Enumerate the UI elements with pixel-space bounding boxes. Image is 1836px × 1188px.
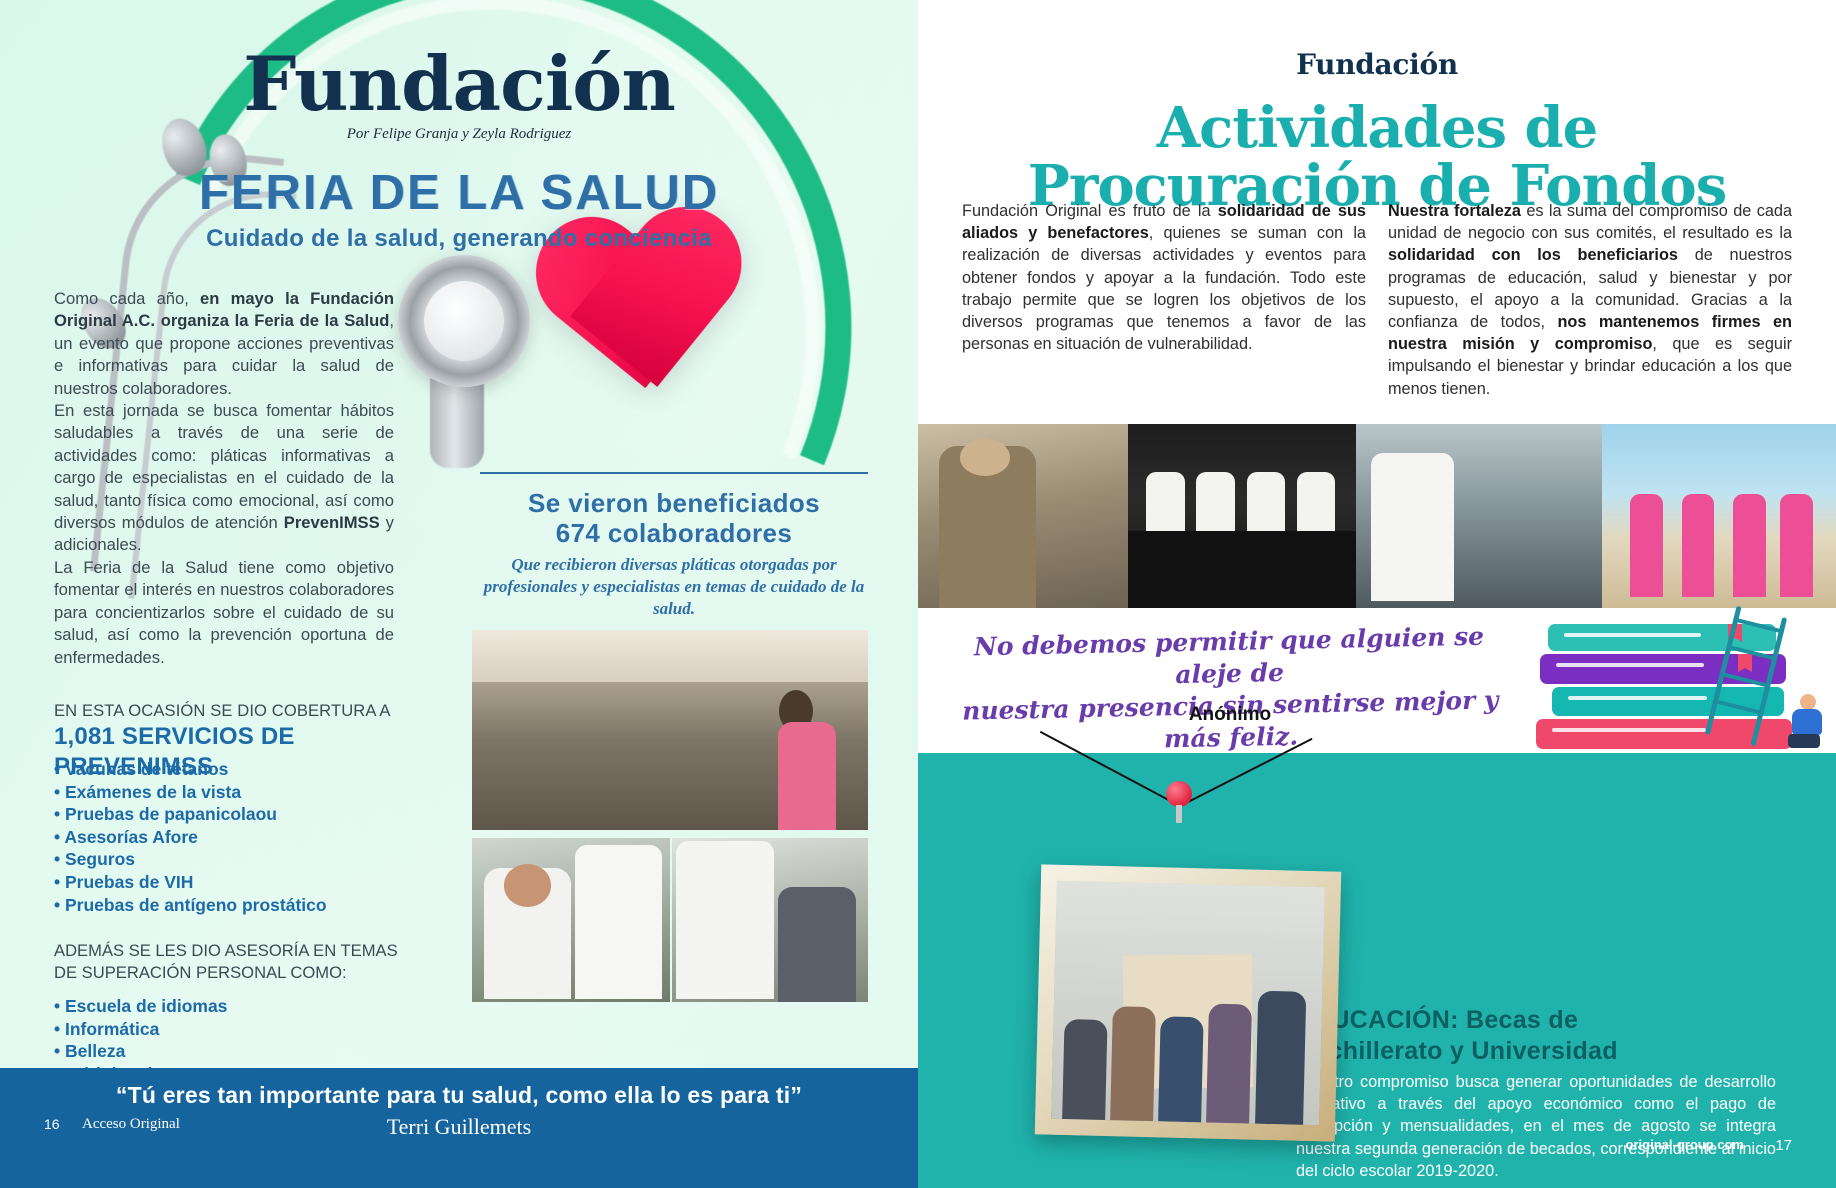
list-item: • Asesorías Afore: [54, 826, 414, 849]
quote-line1: No debemos permitir que alguien se aleje…: [939, 620, 1520, 696]
photo-table: [1128, 531, 1356, 608]
quote-author: Anónimo: [940, 704, 1520, 726]
services-list: • Vacunas de tétanos • Exámenes de la vi…: [54, 758, 414, 916]
photo-strip: [918, 424, 1836, 608]
photo-player: [1682, 494, 1715, 597]
photo-donation-sorting: [918, 424, 1128, 608]
ladder-rung: [1719, 672, 1770, 688]
photo-player: [1630, 494, 1663, 597]
photo-speaker-body: [778, 722, 836, 830]
photo-kitchen-volunteers: [1356, 424, 1602, 608]
framed-photo-group: [1018, 828, 1358, 1158]
beneficiaries-caption: Que recibieron diversas pláticas otorgad…: [480, 554, 868, 620]
left-footer-bar: “Tú eres tan importante para tu salud, c…: [0, 1068, 918, 1188]
photo-player: [1780, 494, 1813, 597]
right-column-1: Fundación Original es fruto de la solida…: [962, 200, 1366, 400]
photo-vaccination: [472, 838, 670, 1002]
ladder-rung: [1713, 699, 1764, 715]
climbing-person-icon: [1782, 694, 1822, 752]
photo-wall: [472, 630, 868, 682]
stethoscope-stem: [430, 378, 484, 468]
left-masthead: Fundación Por Felipe Granja y Zeyla Rodr…: [0, 0, 918, 253]
ladder-rung: [1726, 644, 1777, 660]
photo-player: [1733, 494, 1766, 597]
photo-conference-audience: [472, 630, 868, 830]
p2-part-b: PrevenIMSS: [284, 513, 380, 532]
education-title: EDUCACIÓN: Becas de Bachillerato y Unive…: [1296, 1005, 1796, 1067]
magazine-spread: Fundación Por Felipe Granja y Zeyla Rodr…: [0, 0, 1836, 1188]
photo-doctor: [676, 841, 774, 998]
p1-part-a: Como cada año,: [54, 289, 200, 308]
page-number-right: 17: [1775, 1137, 1792, 1154]
beneficiaries-title-line2: 674 colaboradores: [480, 518, 868, 548]
left-page: Fundación Por Felipe Granja y Zeyla Rodr…: [0, 0, 918, 1188]
photo-person: [1062, 1019, 1107, 1120]
education-title-line2: Bachillerato y Universidad: [1296, 1036, 1796, 1067]
ladder-rung: [1733, 617, 1784, 633]
list-item: • Pruebas de VIH: [54, 871, 414, 894]
book-line: [1556, 663, 1704, 667]
right-body-columns: Fundación Original es fruto de la solida…: [962, 200, 1792, 400]
person-body: [1792, 709, 1822, 735]
photo-inner: [1051, 881, 1325, 1125]
person-head: [1800, 694, 1816, 710]
list-item: • Exámenes de la vista: [54, 781, 414, 804]
photo-person: [1158, 1017, 1203, 1123]
article-subhead: Cuidado de la salud, generando concienci…: [0, 225, 918, 253]
page-title: Fundación: [0, 48, 918, 122]
photo-doctor: [575, 845, 662, 999]
photo-patient: [778, 887, 856, 1002]
books-illustration: [1530, 614, 1830, 754]
right-column-2: Nuestra fortaleza es la suma del comprom…: [1388, 200, 1792, 400]
left-body-text: Como cada año, en mayo la Fundación Orig…: [54, 288, 394, 669]
article-headline: FERIA DE LA SALUD: [0, 165, 918, 221]
photo-volunteer: [1371, 453, 1455, 600]
photo-frame-scholarship-group: [1035, 864, 1342, 1141]
stethoscope-chestpiece: [398, 255, 530, 387]
right-title-line1: Actividades de: [918, 99, 1836, 157]
photo-person: [1207, 1004, 1253, 1124]
left-page-content: Fundación Por Felipe Granja y Zeyla Rodr…: [0, 0, 918, 253]
book-line: [1568, 696, 1707, 700]
col1-part-c: , quienes se suman con la realización de…: [962, 224, 1366, 353]
handwritten-quote: No debemos permitir que alguien se aleje…: [939, 620, 1522, 760]
footer-quote: “Tú eres tan importante para tu salud, c…: [0, 1082, 918, 1109]
right-page: Fundación Actividades de Procuración de …: [918, 0, 1836, 1188]
education-title-line1: EDUCACIÓN: Becas de: [1296, 1005, 1796, 1036]
col2-part-c: solidaridad con los beneficiarios: [1388, 246, 1678, 264]
photo-head: [960, 439, 1010, 476]
right-kicker: Fundación: [918, 48, 1836, 81]
photo-person: [1110, 1006, 1156, 1121]
person-legs: [1788, 734, 1820, 748]
right-masthead: Fundación Actividades de Procuración de …: [918, 0, 1836, 215]
paragraph-1: Como cada año, en mayo la Fundación Orig…: [54, 288, 394, 400]
list-item: • Pruebas de antígeno prostático: [54, 894, 414, 917]
education-body-text: Nuestro compromiso busca generar oportun…: [1296, 1071, 1776, 1182]
book-line: [1552, 728, 1706, 732]
footer-brand-left: Acceso Original: [82, 1116, 180, 1133]
col2-part-a: Nuestra fortaleza: [1388, 202, 1521, 220]
list-item: • Pruebas de papanicolaou: [54, 803, 414, 826]
extra-heading: ADEMÁS SE LES DIO ASESORÍA EN TEMAS DE S…: [54, 940, 404, 984]
photo-committee-table: [1128, 424, 1356, 608]
list-item: • Belleza: [54, 1040, 394, 1063]
byline: Por Felipe Granja y Zeyla Rodriguez: [0, 126, 918, 143]
list-item: • Vacunas de tétanos: [54, 758, 414, 781]
pushpin-icon: [1166, 781, 1192, 807]
photo-beach-volleyball: [1602, 424, 1836, 608]
paragraph-2: En esta jornada se busca fomentar hábito…: [54, 400, 394, 557]
right-page-title: Actividades de Procuración de Fondos: [918, 99, 1836, 215]
list-item: • Informática: [54, 1018, 394, 1041]
beneficiaries-title-line1: Se vieron beneficiados: [480, 488, 868, 518]
col1-part-a: Fundación Original es fruto de la: [962, 202, 1218, 220]
footer-brand-right: original-group.com: [1626, 1137, 1744, 1152]
beneficiaries-title: Se vieron beneficiados 674 colaboradores: [480, 488, 868, 548]
divider-top: [480, 472, 868, 474]
photo-person: [1255, 990, 1306, 1124]
quote-band: No debemos permitir que alguien se aleje…: [918, 608, 1836, 753]
book-line: [1564, 633, 1701, 637]
photo-face: [504, 864, 552, 907]
paragraph-3: La Feria de la Salud tiene como objetivo…: [54, 557, 394, 669]
list-item: • Escuela de idiomas: [54, 995, 394, 1018]
beneficiaries-callout: Se vieron beneficiados 674 colaboradores…: [480, 472, 868, 636]
list-item: • Seguros: [54, 848, 414, 871]
page-number-left: 16: [44, 1116, 60, 1132]
coverage-intro: EN ESTA OCASIÓN SE DIO COBERTURA A: [54, 700, 400, 722]
photo-medical-check: [672, 838, 868, 1002]
